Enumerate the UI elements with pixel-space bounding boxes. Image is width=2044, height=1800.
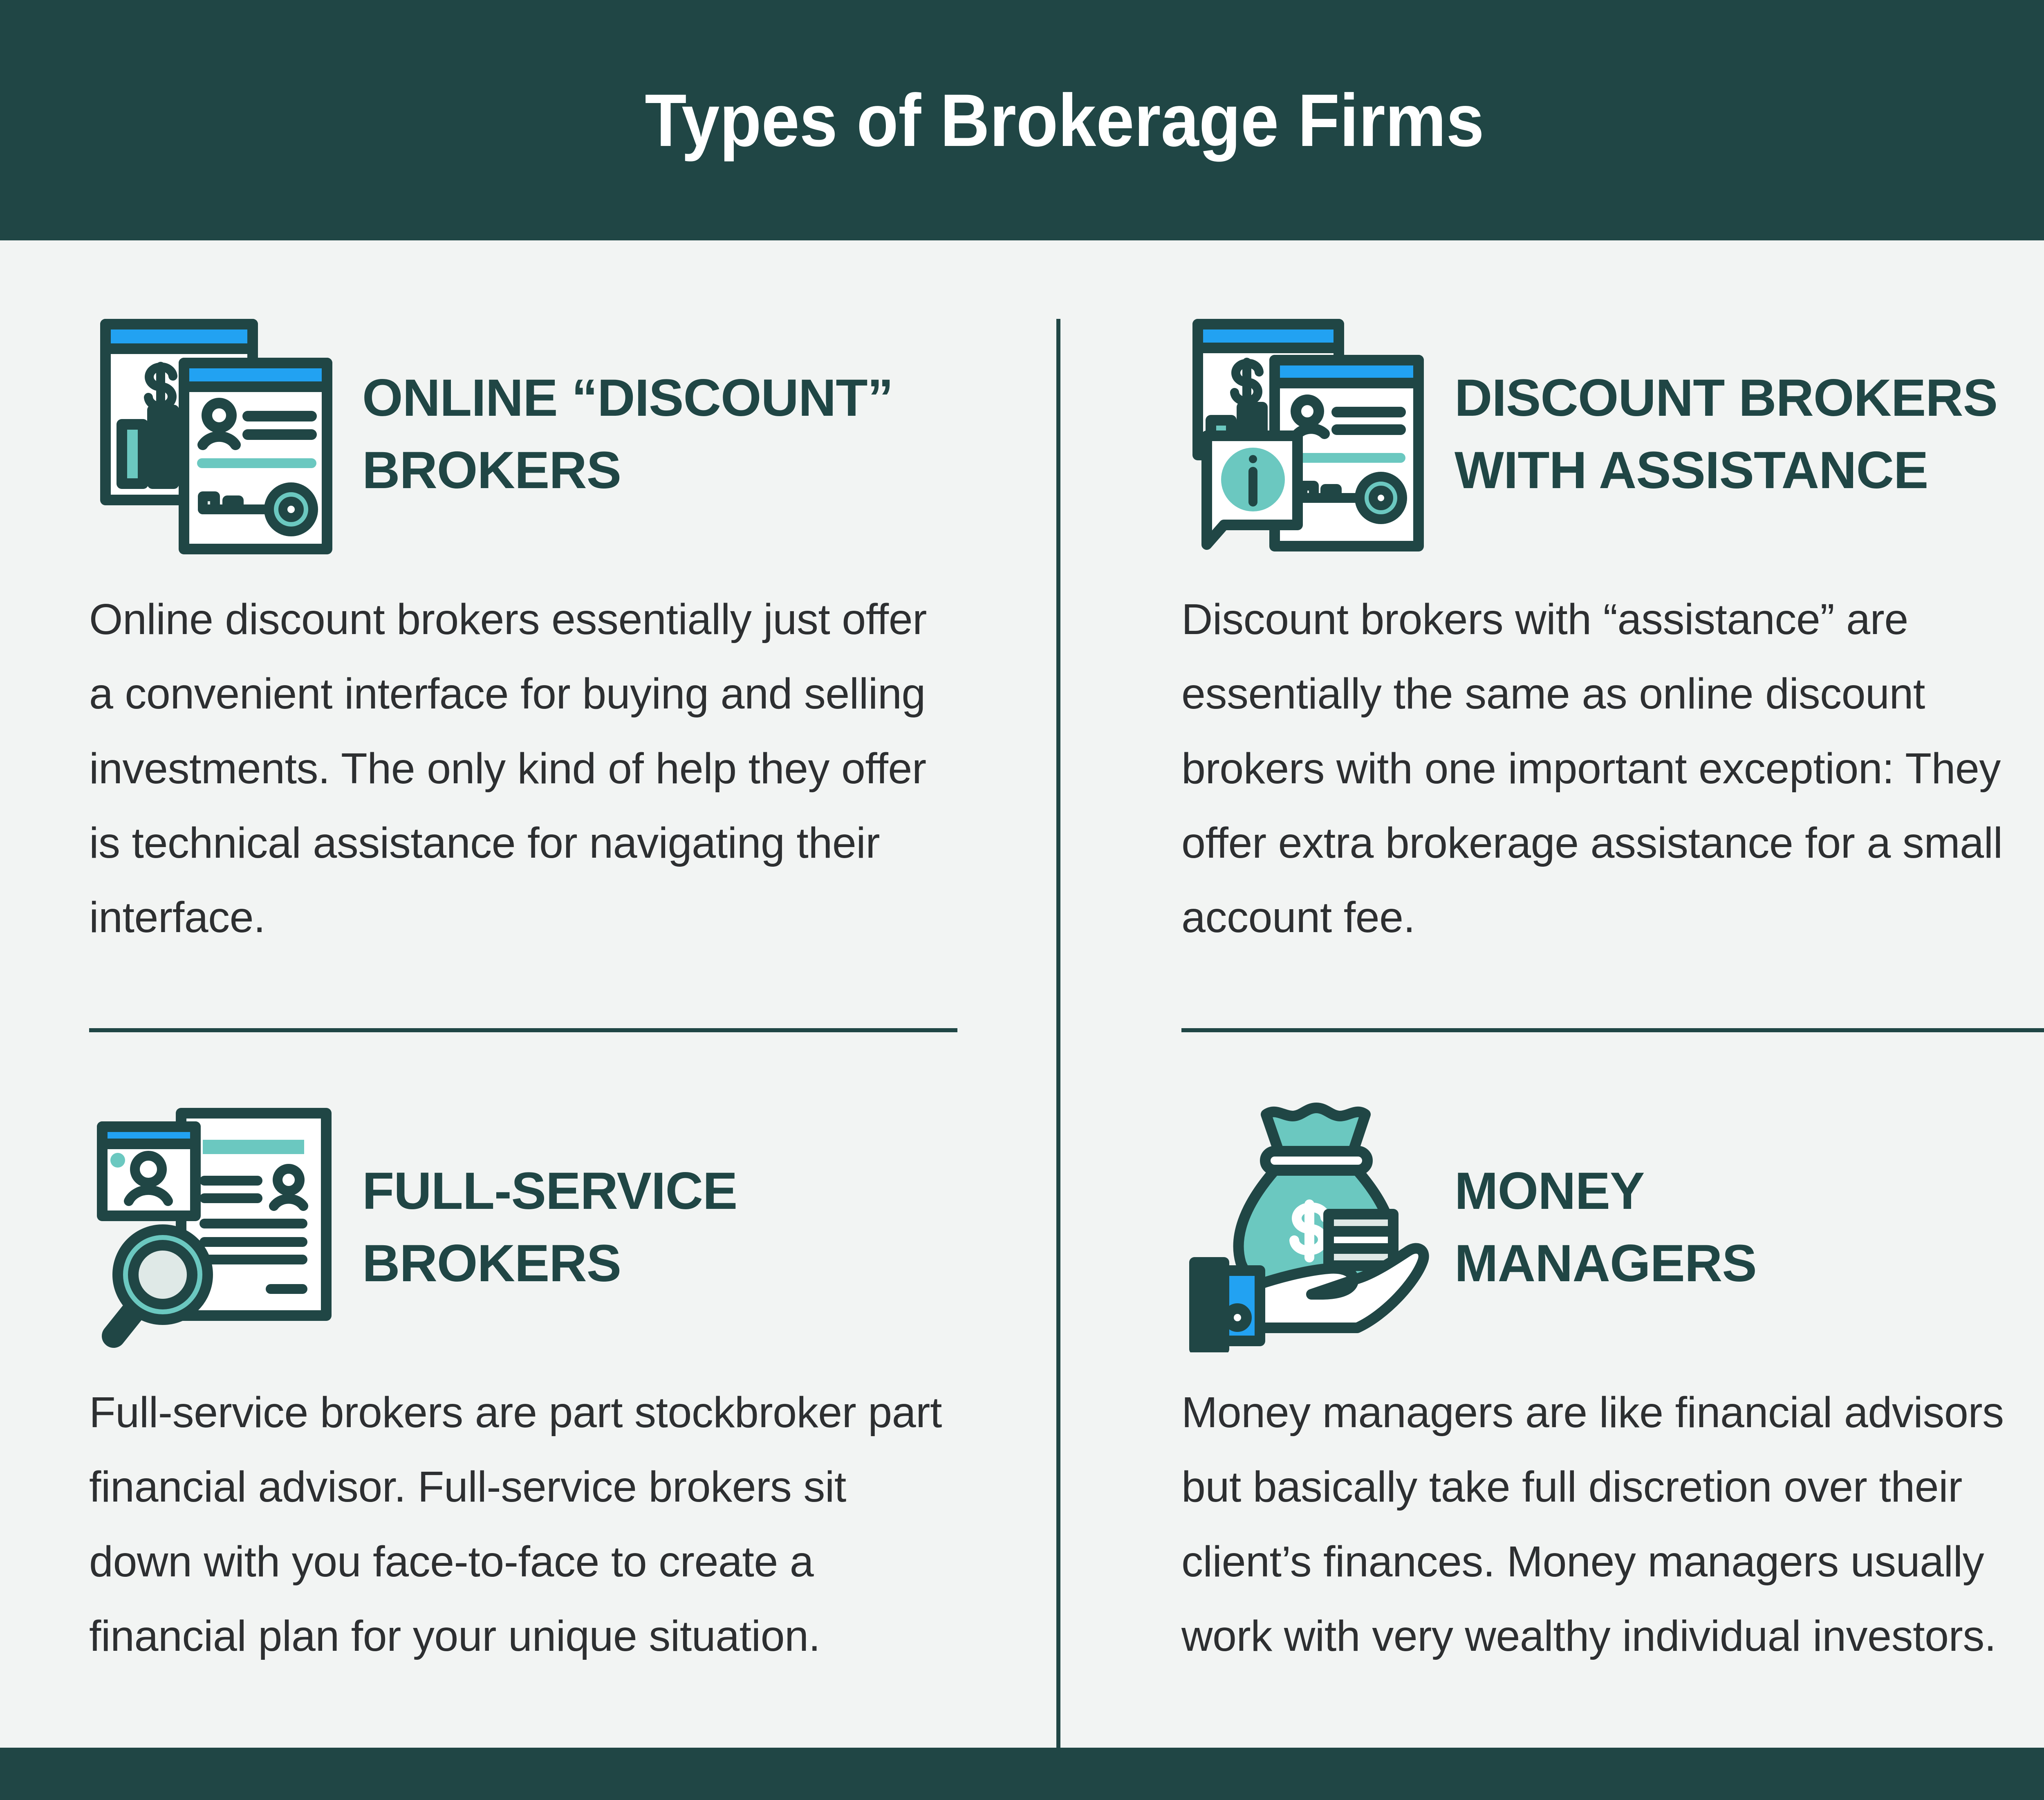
money-bag-in-hand-icon — [1181, 1099, 1443, 1361]
footer-bar — [0, 1748, 2044, 1800]
horizontal-divider-left — [89, 1028, 957, 1032]
two-browser-windows-with-chart-and-key-icon — [89, 306, 351, 567]
card-title: MONEY MANAGERS — [1455, 1155, 1757, 1300]
infographic-root: Types of Brokerage Firms — [0, 0, 2044, 1800]
page-title: Types of Brokerage Firms — [645, 83, 1484, 157]
vertical-divider — [1056, 319, 1060, 1750]
card-money-managers: MONEY MANAGERS Money managers are like f… — [1181, 1099, 2044, 1673]
card-title: ONLINE “DISCOUNT” BROKERS — [362, 362, 893, 507]
card-body-text: Full-service brokers are part stockbroke… — [89, 1375, 944, 1673]
card-title: DISCOUNT BROKERS WITH ASSISTANCE — [1455, 362, 1997, 507]
card-body-text: Online discount brokers essentially just… — [89, 582, 944, 955]
card-header: MONEY MANAGERS — [1181, 1099, 2044, 1361]
card-title: FULL-SERVICE BROKERS — [362, 1155, 737, 1300]
card-header: ONLINE “DISCOUNT” BROKERS — [89, 306, 957, 567]
document-with-person-and-magnifying-glass-icon — [89, 1099, 351, 1361]
horizontal-divider-right — [1181, 1028, 2044, 1032]
card-discount-brokers-with-assistance: DISCOUNT BROKERS WITH ASSISTANCE Discoun… — [1181, 306, 2044, 955]
card-body-text: Money managers are like financial adviso… — [1181, 1375, 2044, 1673]
card-header: DISCOUNT BROKERS WITH ASSISTANCE — [1181, 306, 2044, 567]
card-online-discount-brokers: ONLINE “DISCOUNT” BROKERS Online discoun… — [89, 306, 957, 955]
card-full-service-brokers: FULL-SERVICE BROKERS Full-service broker… — [89, 1099, 957, 1673]
browser-windows-with-info-speech-bubble-icon — [1181, 306, 1443, 567]
card-header: FULL-SERVICE BROKERS — [89, 1099, 957, 1361]
cards-grid: ONLINE “DISCOUNT” BROKERS Online discoun… — [0, 240, 2044, 1748]
card-body-text: Discount brokers with “assistance” are e… — [1181, 582, 2044, 955]
header-bar: Types of Brokerage Firms — [0, 0, 2044, 240]
